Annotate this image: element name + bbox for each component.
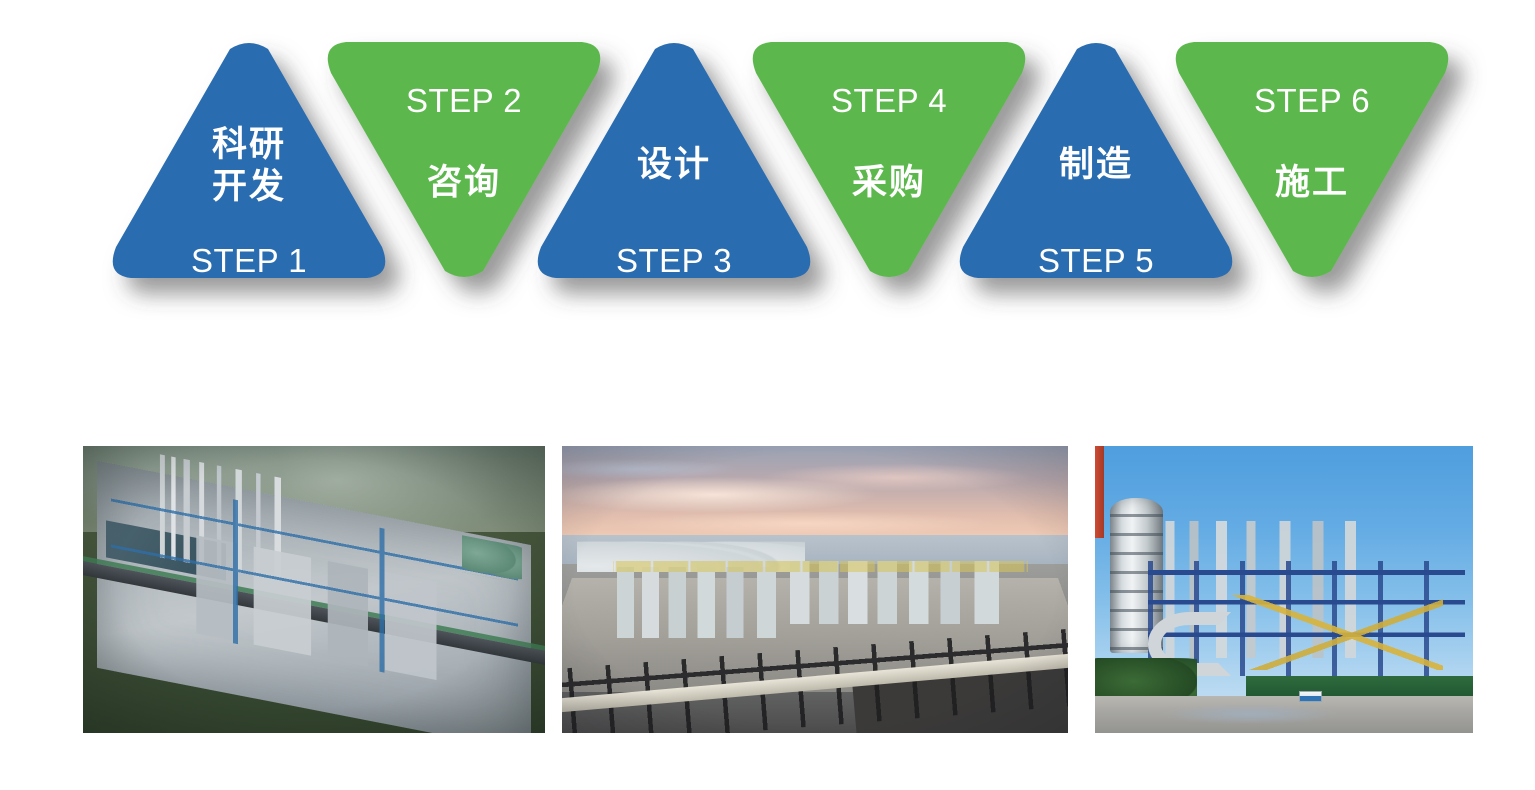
photo-aerial-chemical-plant-rendering <box>83 446 545 733</box>
photo-petrochemical-refinery-units <box>1095 446 1473 733</box>
photo-oil-tank-farm-at-dusk <box>562 446 1068 733</box>
project-photo-gallery <box>0 0 1535 790</box>
